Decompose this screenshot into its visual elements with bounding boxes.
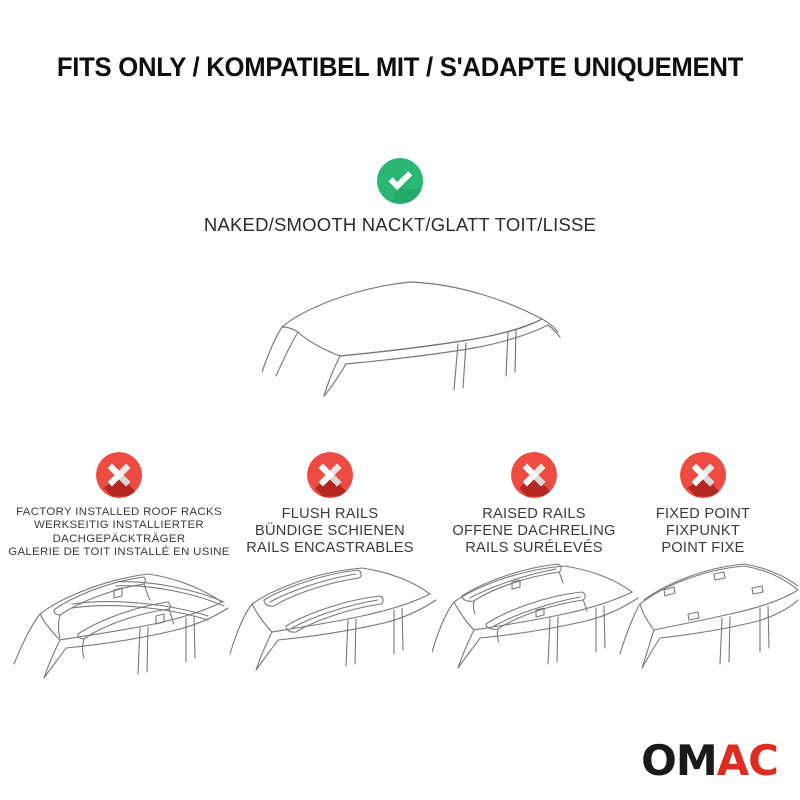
label-line-2: FIXPUNKT: [628, 523, 778, 540]
logo-text-red: AC: [717, 736, 778, 785]
incompatible-item-raised-rails: RAISED RAILS OFFENE DACHRELING RAILS SUR…: [432, 452, 636, 558]
label-line-1: RAISED RAILS: [432, 506, 636, 523]
smooth-roof-illustration: [262, 272, 562, 407]
label-line-2: OFFENE DACHRELING: [432, 523, 636, 540]
label-line-1: FACTORY INSTALLED ROOF RACKS: [8, 506, 230, 519]
compatible-label-line-3: TOIT/LISSE: [495, 214, 596, 235]
compatible-label-line-1: NAKED/SMOOTH: [204, 214, 356, 235]
factory-rack-roof-illustration: [10, 552, 232, 692]
cross-icon: [307, 452, 353, 498]
label-line-1: FIXED POINT: [628, 506, 778, 523]
logo-text-dark: OM: [641, 736, 717, 785]
check-icon: [377, 158, 423, 204]
compatible-roof-type: NAKED/SMOOTH NACKT/GLATT TOIT/LISSE: [0, 158, 800, 235]
label-line-2: BÜNDIGE SCHIENEN: [228, 523, 432, 540]
compatible-label-line-2: NACKT/GLATT: [362, 214, 490, 235]
omac-logo: OMAC: [641, 740, 778, 782]
fixed-point-roof-illustration: [618, 552, 798, 692]
cross-icon: [96, 452, 142, 498]
incompatible-label-raised-rails: RAISED RAILS OFFENE DACHRELING RAILS SUR…: [432, 506, 636, 558]
label-line-2: WERKSEITIG INSTALLIERTER: [8, 519, 230, 532]
label-line-3: DACHGEPÄCKTRÄGER: [8, 533, 230, 546]
raised-rails-roof-illustration: [432, 552, 642, 692]
incompatible-item-factory-installed-roof-racks: FACTORY INSTALLED ROOF RACKS WERKSEITIG …: [8, 452, 230, 560]
incompatible-label-flush-rails: FLUSH RAILS BÜNDIGE SCHIENEN RAILS ENCAS…: [228, 506, 432, 558]
cross-icon: [511, 452, 557, 498]
page-title: FITS ONLY / KOMPATIBEL MIT / S'ADAPTE UN…: [12, 52, 788, 83]
cross-icon: [680, 452, 726, 498]
incompatible-item-fixed-point: FIXED POINT FIXPUNKT POINT FIXE: [628, 452, 778, 558]
incompatible-roof-types: FACTORY INSTALLED ROOF RACKS WERKSEITIG …: [0, 452, 800, 702]
label-line-1: FLUSH RAILS: [228, 506, 432, 523]
compatible-label: NAKED/SMOOTH NACKT/GLATT TOIT/LISSE: [0, 214, 800, 235]
flush-rails-roof-illustration: [228, 552, 438, 692]
incompatible-label-fixed-point: FIXED POINT FIXPUNKT POINT FIXE: [628, 506, 778, 558]
incompatible-item-flush-rails: FLUSH RAILS BÜNDIGE SCHIENEN RAILS ENCAS…: [228, 452, 432, 558]
